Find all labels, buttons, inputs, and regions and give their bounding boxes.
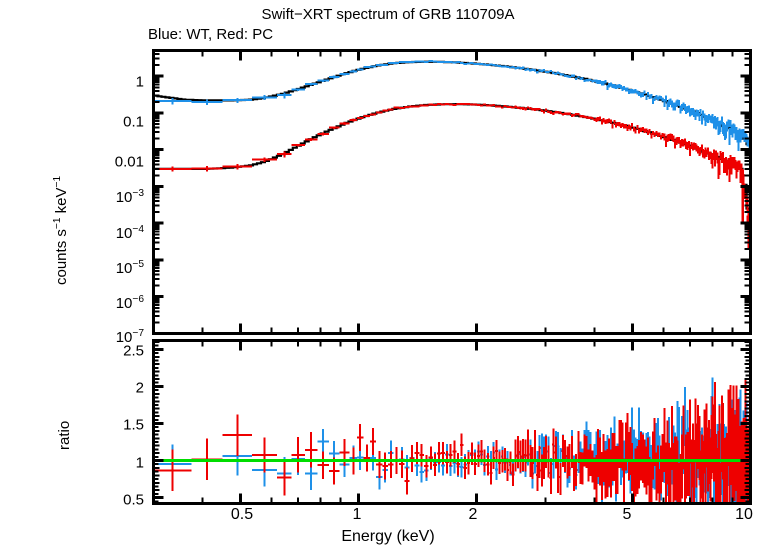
spectrum-figure: Swift−XRT spectrum of GRB 110709A Blue: … — [0, 0, 776, 556]
spectrum-panel — [154, 60, 751, 248]
ratio-panel — [154, 377, 751, 502]
plot-canvas — [0, 0, 776, 556]
